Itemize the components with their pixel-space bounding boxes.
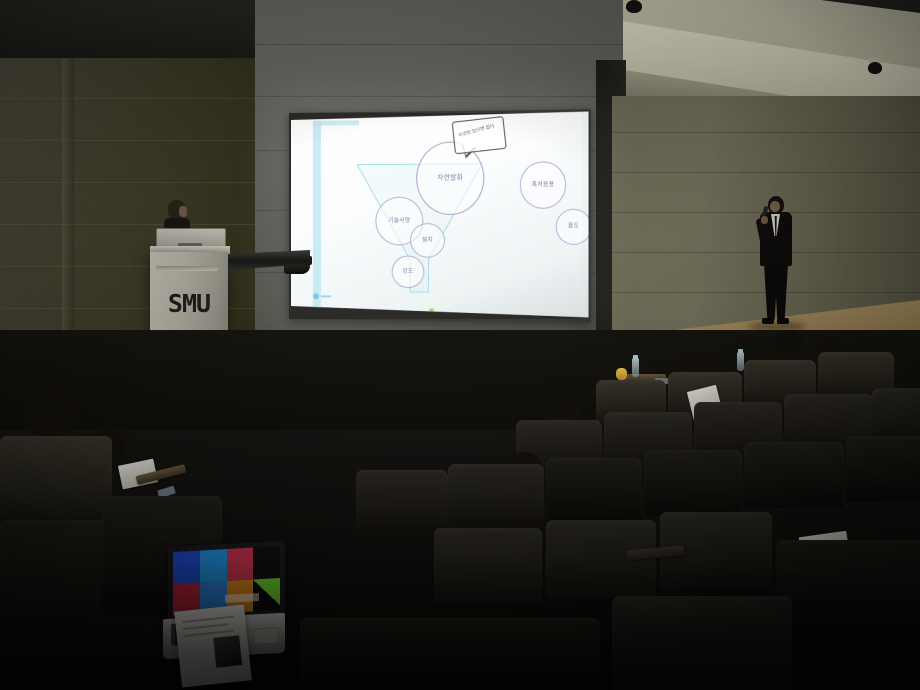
seat[interactable] <box>546 458 642 522</box>
seat[interactable] <box>300 618 600 690</box>
callout-text: 이것만 있으면 없다 <box>458 122 501 139</box>
slide-accent-band <box>313 121 321 312</box>
auditorium-scene: 자연발화 기술사양 설치 강도 폭처음용 용도 이것만 있으면 없다 <box>0 0 920 690</box>
podium-brand-label: SMU <box>150 286 228 320</box>
foreground-handout <box>174 605 252 688</box>
seat[interactable] <box>448 464 544 528</box>
slide-bubble: 설치 <box>410 223 445 258</box>
laptop-tile <box>173 550 200 583</box>
projected-slide: 자연발화 기술사양 설치 강도 폭처음용 용도 이것만 있으면 없다 <box>291 111 589 317</box>
presenter <box>755 196 797 328</box>
laptop-trackpad[interactable] <box>253 627 279 644</box>
seat[interactable] <box>744 442 844 508</box>
slide-bubble: 강도 <box>392 255 425 288</box>
slide-bubble: 용도 <box>556 209 589 245</box>
laptop-tile <box>253 546 280 579</box>
snack-item <box>616 368 627 380</box>
slide-accent-band-top <box>313 120 359 126</box>
slide-logo-icon <box>313 293 331 300</box>
seat[interactable] <box>612 596 792 690</box>
attendee-head <box>775 330 803 354</box>
podium-groove <box>156 266 218 271</box>
laptop-tile <box>200 549 227 582</box>
seat[interactable] <box>644 450 742 516</box>
slide-bubble: 폭처음용 <box>520 161 566 209</box>
ceiling-dome-camera-icon <box>868 62 882 74</box>
water-bottle <box>632 358 639 377</box>
seat[interactable] <box>356 470 448 532</box>
slide-marker-dot-icon <box>430 308 434 314</box>
attendee-head <box>24 392 76 436</box>
ceiling-dome-speaker-icon <box>626 0 642 13</box>
seat[interactable] <box>434 528 542 604</box>
slide-callout: 이것만 있으면 없다 <box>452 116 507 154</box>
seat[interactable] <box>0 436 112 526</box>
laptop-tile <box>227 548 254 581</box>
water-bottle <box>737 352 744 371</box>
seat[interactable] <box>776 540 920 630</box>
seat[interactable] <box>846 436 920 502</box>
projection-screen: 자연발화 기술사양 설치 강도 폭처음용 용도 이것만 있으면 없다 <box>289 109 591 322</box>
